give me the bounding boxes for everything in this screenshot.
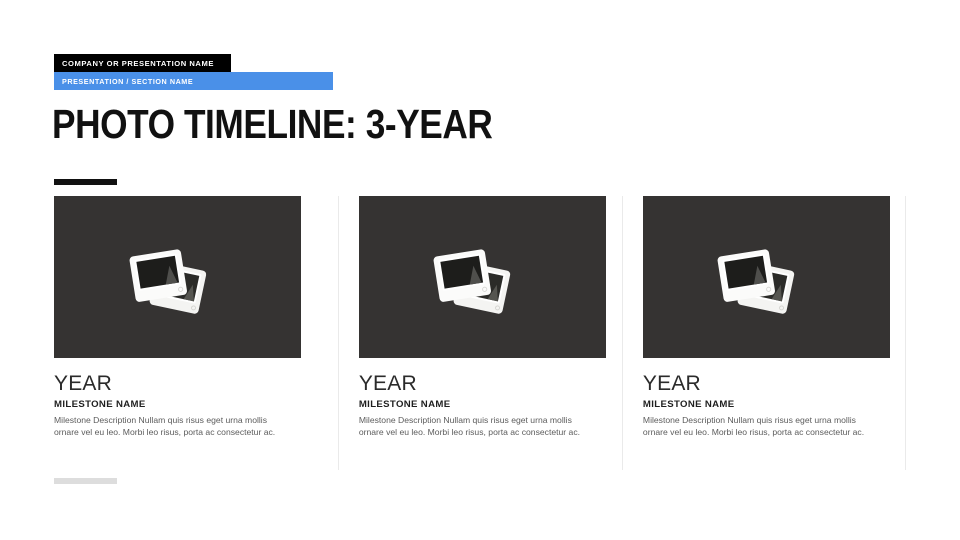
photo-placeholder-card[interactable]	[359, 196, 606, 358]
year-label: YEAR	[54, 372, 301, 395]
milestone-description: Milestone Description Nullam quis risus …	[54, 415, 282, 438]
title-accent-rule	[54, 179, 117, 185]
company-name-label: COMPANY OR PRESENTATION NAME	[62, 59, 214, 68]
photo-slides-icon	[711, 235, 821, 319]
column-divider-right	[905, 196, 906, 470]
milestone-description: Milestone Description Nullam quis risus …	[643, 415, 871, 438]
section-name-label: PRESENTATION / SECTION NAME	[62, 77, 193, 86]
milestone-text-block: YEAR MILESTONE NAME Milestone Descriptio…	[643, 358, 890, 438]
photo-placeholder-card[interactable]	[643, 196, 890, 358]
photo-slides-icon	[427, 235, 537, 319]
company-name-bar: COMPANY OR PRESENTATION NAME	[54, 54, 231, 72]
slide-canvas: COMPANY OR PRESENTATION NAME PRESENTATIO…	[0, 0, 960, 540]
photo-placeholder-card[interactable]	[54, 196, 301, 358]
timeline-column: YEAR MILESTONE NAME Milestone Descriptio…	[54, 196, 338, 470]
milestone-name: MILESTONE NAME	[643, 399, 890, 411]
year-label: YEAR	[359, 372, 606, 395]
photo-slides-icon	[123, 235, 233, 319]
year-label: YEAR	[643, 372, 890, 395]
milestone-text-block: YEAR MILESTONE NAME Milestone Descriptio…	[54, 358, 301, 438]
section-name-bar: PRESENTATION / SECTION NAME	[54, 72, 333, 90]
timeline-column: YEAR MILESTONE NAME Milestone Descriptio…	[338, 196, 622, 470]
footer-accent-rule	[54, 478, 117, 484]
milestone-text-block: YEAR MILESTONE NAME Milestone Descriptio…	[359, 358, 606, 438]
page-title: PHOTO TIMELINE: 3-YEAR	[52, 100, 492, 148]
milestone-description: Milestone Description Nullam quis risus …	[359, 415, 587, 438]
milestone-name: MILESTONE NAME	[359, 399, 606, 411]
timeline-columns: YEAR MILESTONE NAME Milestone Descriptio…	[54, 196, 906, 470]
milestone-name: MILESTONE NAME	[54, 399, 301, 411]
timeline-column: YEAR MILESTONE NAME Milestone Descriptio…	[622, 196, 906, 470]
